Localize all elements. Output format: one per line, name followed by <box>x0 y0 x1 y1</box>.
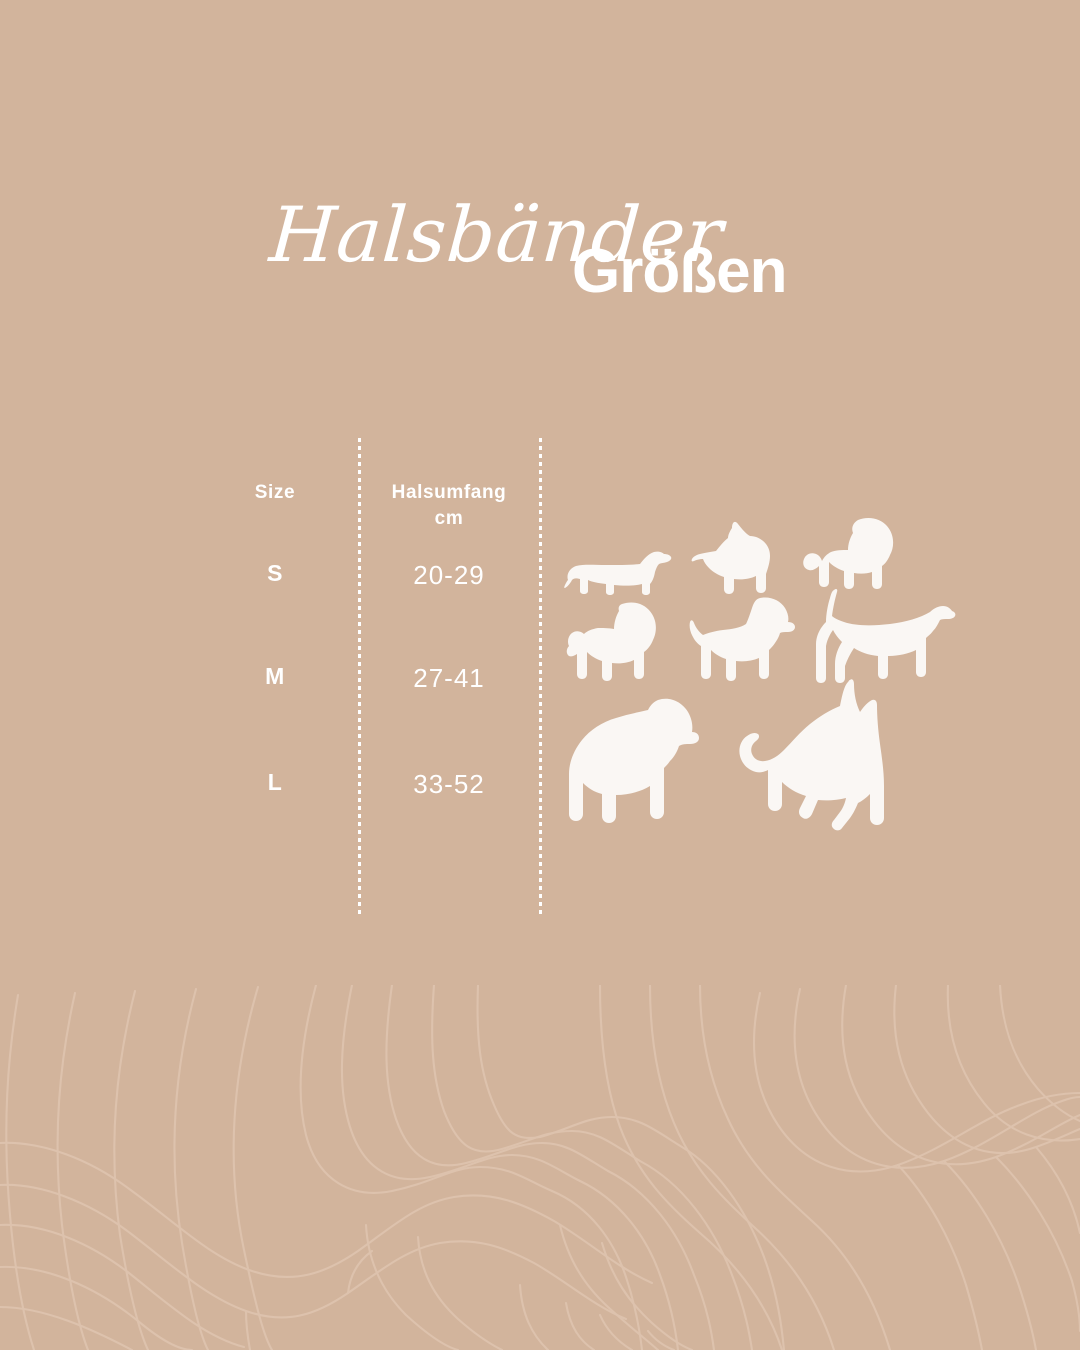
table-value-measurement-s: 20-29 <box>368 560 530 591</box>
chihuahua-icon <box>688 518 792 596</box>
table-row-size-l: L <box>215 769 335 796</box>
table-row-size-s: S <box>215 560 335 587</box>
page-title: Halsbänder Größen <box>0 190 1080 320</box>
table-value-measurement-l: 33-52 <box>368 769 530 800</box>
size-chart-page: Halsbänder Größen Size Halsumfang cm S 2… <box>0 0 1080 1350</box>
golden-retriever-icon <box>562 688 700 834</box>
table-value-measurement-m: 27-41 <box>368 663 530 694</box>
column-header-measurement: Halsumfang cm <box>368 480 530 532</box>
dachshund-icon <box>564 534 674 596</box>
title-bold-text: Größen <box>572 236 786 307</box>
german-shepherd-icon <box>734 676 894 836</box>
table-row-size-m: M <box>215 663 335 690</box>
cockapoo-icon <box>564 598 670 690</box>
table-divider-right <box>539 438 542 916</box>
topographic-background-pattern <box>0 985 1080 1350</box>
column-header-size: Size <box>215 480 335 506</box>
table-divider-left <box>358 438 361 916</box>
dog-illustration-group <box>548 500 968 860</box>
